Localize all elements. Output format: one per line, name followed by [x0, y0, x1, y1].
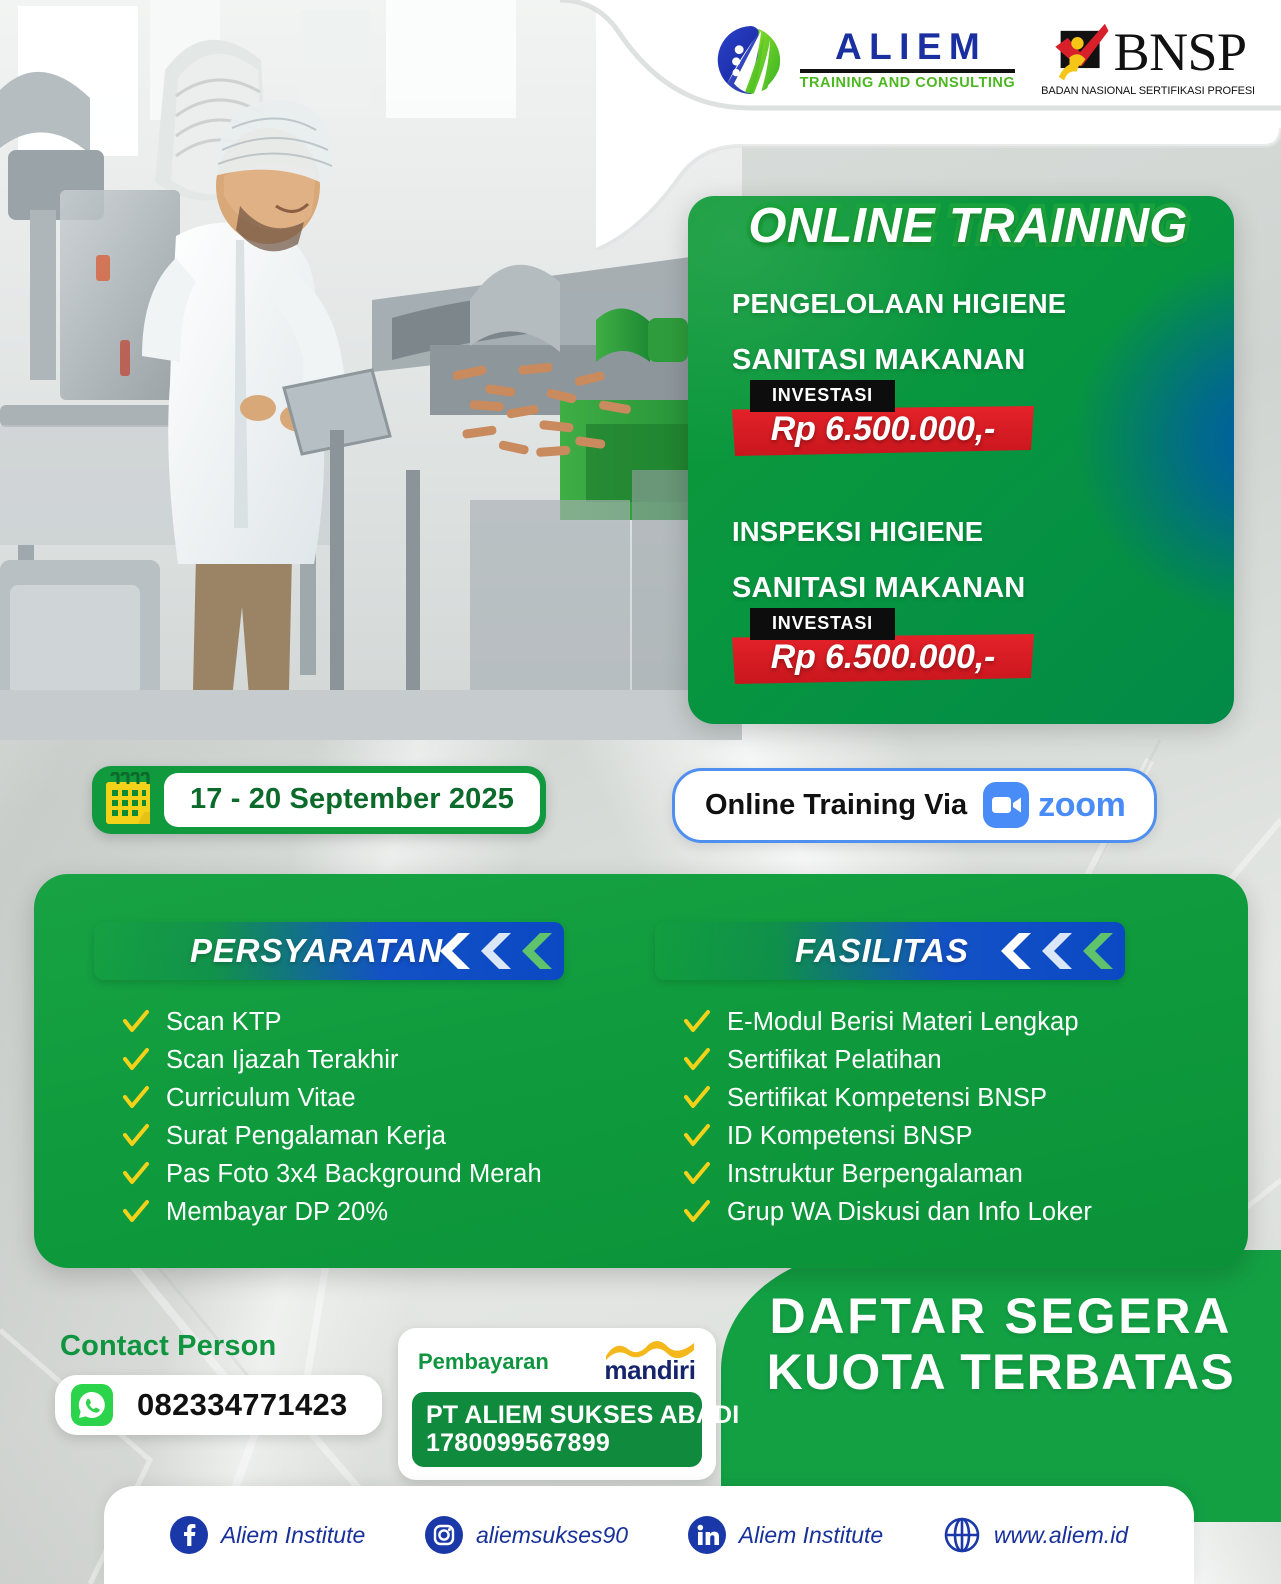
requirements-list: Scan KTP Scan Ijazah Terakhir Curriculum…	[122, 1008, 641, 1227]
aliem-logo: ALIEM TRAINING AND CONSULTING	[714, 23, 1015, 97]
chevron-left-icon-3	[1075, 931, 1113, 971]
contact-person-title: Contact Person	[60, 1330, 276, 1363]
calendar-icon	[102, 772, 156, 828]
course-block-1: PENGELOLAAN HIGIENE SANITASI MAKANAN INV…	[732, 288, 1066, 456]
social-facebook[interactable]: Aliem Institute	[170, 1516, 365, 1554]
check-icon	[122, 1199, 149, 1226]
facilities-title: FASILITAS	[795, 932, 969, 970]
check-icon	[122, 1047, 149, 1074]
course-block-2: INSPEKSI HIGIENE SANITASI MAKANAN INVEST…	[732, 516, 1042, 684]
list-item-label: Pas Foto 3x4 Background Merah	[166, 1160, 542, 1189]
bnsp-wordmark: BNSP	[1114, 27, 1247, 78]
list-item-label: Curriculum Vitae	[166, 1084, 356, 1113]
requirements-column: PERSYARATAN	[34, 874, 641, 1268]
details-panel: PERSYARATAN	[34, 874, 1248, 1268]
list-item-label: Surat Pengalaman Kerja	[166, 1122, 446, 1151]
bnsp-tagline: BADAN NASIONAL SERTIFIKASI PROFESI	[1041, 85, 1255, 97]
list-item: Membayar DP 20%	[122, 1198, 641, 1227]
check-icon	[122, 1009, 149, 1036]
linkedin-icon	[688, 1516, 726, 1554]
cta-line-1: DAFTAR SEGERA	[767, 1288, 1235, 1344]
cta-line-2: KUOTA TERBATAS	[767, 1344, 1235, 1400]
list-item-label: Grup WA Diskusi dan Info Loker	[727, 1198, 1092, 1227]
aliem-tagline: TRAINING AND CONSULTING	[800, 76, 1015, 91]
list-item: Instruktur Berpengalaman	[683, 1160, 1248, 1189]
platform-label: Online Training Via	[705, 789, 967, 822]
linkedin-handle: Aliem Institute	[739, 1522, 883, 1549]
whatsapp-contact-pill[interactable]: 082334771423	[55, 1375, 382, 1435]
facilities-chevrons	[993, 931, 1113, 971]
social-website[interactable]: www.aliem.id	[943, 1516, 1128, 1554]
footer-social-bar: Aliem Institute aliemsukses90 Aliem Inst…	[104, 1486, 1194, 1584]
training-date-pill: 17 - 20 September 2025	[92, 766, 546, 834]
course-1-price-group: INVESTASI Rp 6.500.000,-	[732, 380, 1042, 456]
instagram-handle: aliemsukses90	[476, 1522, 628, 1549]
requirements-chevrons	[432, 931, 552, 971]
course-2-price: Rp 6.500.000,-	[732, 638, 1034, 677]
check-icon	[122, 1123, 149, 1150]
aliem-sphere-icon	[714, 23, 788, 97]
list-item: Scan KTP	[122, 1008, 641, 1037]
bnsp-logo: BNSP BADAN NASIONAL SERTIFIKASI PROFESI	[1041, 22, 1255, 97]
payment-card: Pembayaran mandiri PT ALIEM SUKSES ABADI…	[398, 1328, 716, 1480]
whatsapp-number: 082334771423	[137, 1387, 348, 1423]
course-2-price-group: INVESTASI Rp 6.500.000,-	[732, 608, 1042, 684]
website-handle: www.aliem.id	[994, 1522, 1128, 1549]
check-icon	[683, 1085, 710, 1112]
list-item-label: Scan KTP	[166, 1008, 282, 1037]
requirements-header: PERSYARATAN	[94, 922, 614, 980]
requirements-title: PERSYARATAN	[190, 932, 443, 970]
payment-account-number: 1780099567899	[426, 1429, 688, 1457]
facebook-icon	[170, 1516, 208, 1554]
aliem-divider	[800, 69, 1015, 73]
zoom-wordmark: zoom	[1038, 788, 1125, 822]
facilities-list: E-Modul Berisi Materi Lengkap Sertifikat…	[683, 1008, 1248, 1227]
list-item: Curriculum Vitae	[122, 1084, 641, 1113]
list-item: Surat Pengalaman Kerja	[122, 1122, 641, 1151]
chevron-left-icon-1	[993, 931, 1031, 971]
course-2-line2: SANITASI MAKANAN	[732, 572, 1042, 605]
aliem-wordmark: ALIEM	[828, 28, 988, 65]
list-item: Sertifikat Kompetensi BNSP	[683, 1084, 1248, 1113]
list-item-label: Scan Ijazah Terakhir	[166, 1046, 399, 1075]
check-icon	[122, 1085, 149, 1112]
facilities-header: FASILITAS	[655, 922, 1215, 980]
chevron-left-icon-1	[432, 931, 470, 971]
course-2-invest-label: INVESTASI	[750, 608, 895, 640]
facilities-column: FASILITAS	[641, 874, 1248, 1268]
facebook-handle: Aliem Institute	[221, 1522, 365, 1549]
header-logos: ALIEM TRAINING AND CONSULTING BNSP BADAN…	[714, 22, 1255, 97]
list-item: ID Kompetensi BNSP	[683, 1122, 1248, 1151]
social-linkedin[interactable]: Aliem Institute	[688, 1516, 883, 1554]
whatsapp-icon	[71, 1384, 113, 1426]
list-item-label: ID Kompetensi BNSP	[727, 1122, 973, 1151]
list-item-label: Membayar DP 20%	[166, 1198, 388, 1227]
zoom-camera-icon	[983, 782, 1029, 828]
check-icon	[122, 1161, 149, 1188]
chevron-left-icon-3	[514, 931, 552, 971]
cta-block: DAFTAR SEGERA KUOTA TERBATAS	[767, 1288, 1235, 1400]
course-1-line1: PENGELOLAAN HIGIENE	[732, 288, 1066, 320]
poster-root: ALIEM TRAINING AND CONSULTING BNSP BADAN…	[0, 0, 1281, 1584]
zoom-logo: zoom	[983, 782, 1125, 828]
list-item-label: Instruktur Berpengalaman	[727, 1160, 1023, 1189]
list-item: E-Modul Berisi Materi Lengkap	[683, 1008, 1248, 1037]
check-icon	[683, 1047, 710, 1074]
check-icon	[683, 1009, 710, 1036]
payment-label: Pembayaran	[418, 1349, 549, 1375]
payment-account-name: PT ALIEM SUKSES ABADI	[426, 1401, 688, 1429]
list-item-label: Sertifikat Kompetensi BNSP	[727, 1084, 1047, 1113]
list-item: Sertifikat Pelatihan	[683, 1046, 1248, 1075]
chevron-left-icon-2	[1034, 931, 1072, 971]
list-item: Pas Foto 3x4 Background Merah	[122, 1160, 641, 1189]
course-1-price: Rp 6.500.000,-	[732, 410, 1034, 449]
list-item: Grup WA Diskusi dan Info Loker	[683, 1198, 1248, 1227]
social-instagram[interactable]: aliemsukses90	[425, 1516, 628, 1554]
course-1-invest-label: INVESTASI	[750, 380, 895, 412]
mandiri-wordmark: mandiri	[604, 1357, 695, 1383]
list-item: Scan Ijazah Terakhir	[122, 1046, 641, 1075]
online-training-title: ONLINE TRAINING	[708, 198, 1228, 254]
training-date: 17 - 20 September 2025	[164, 773, 540, 827]
check-icon	[683, 1123, 710, 1150]
chevron-left-icon-2	[473, 931, 511, 971]
bnsp-check-icon	[1050, 22, 1112, 84]
course-2-line1: INSPEKSI HIGIENE	[732, 516, 1042, 548]
instagram-icon	[425, 1516, 463, 1554]
list-item-label: E-Modul Berisi Materi Lengkap	[727, 1008, 1079, 1037]
check-icon	[683, 1161, 710, 1188]
globe-icon	[943, 1516, 981, 1554]
course-1-line2: SANITASI MAKANAN	[732, 344, 1066, 377]
platform-pill: Online Training Via zoom	[672, 768, 1157, 843]
check-icon	[683, 1199, 710, 1226]
list-item-label: Sertifikat Pelatihan	[727, 1046, 942, 1075]
mandiri-logo: mandiri	[604, 1340, 696, 1383]
